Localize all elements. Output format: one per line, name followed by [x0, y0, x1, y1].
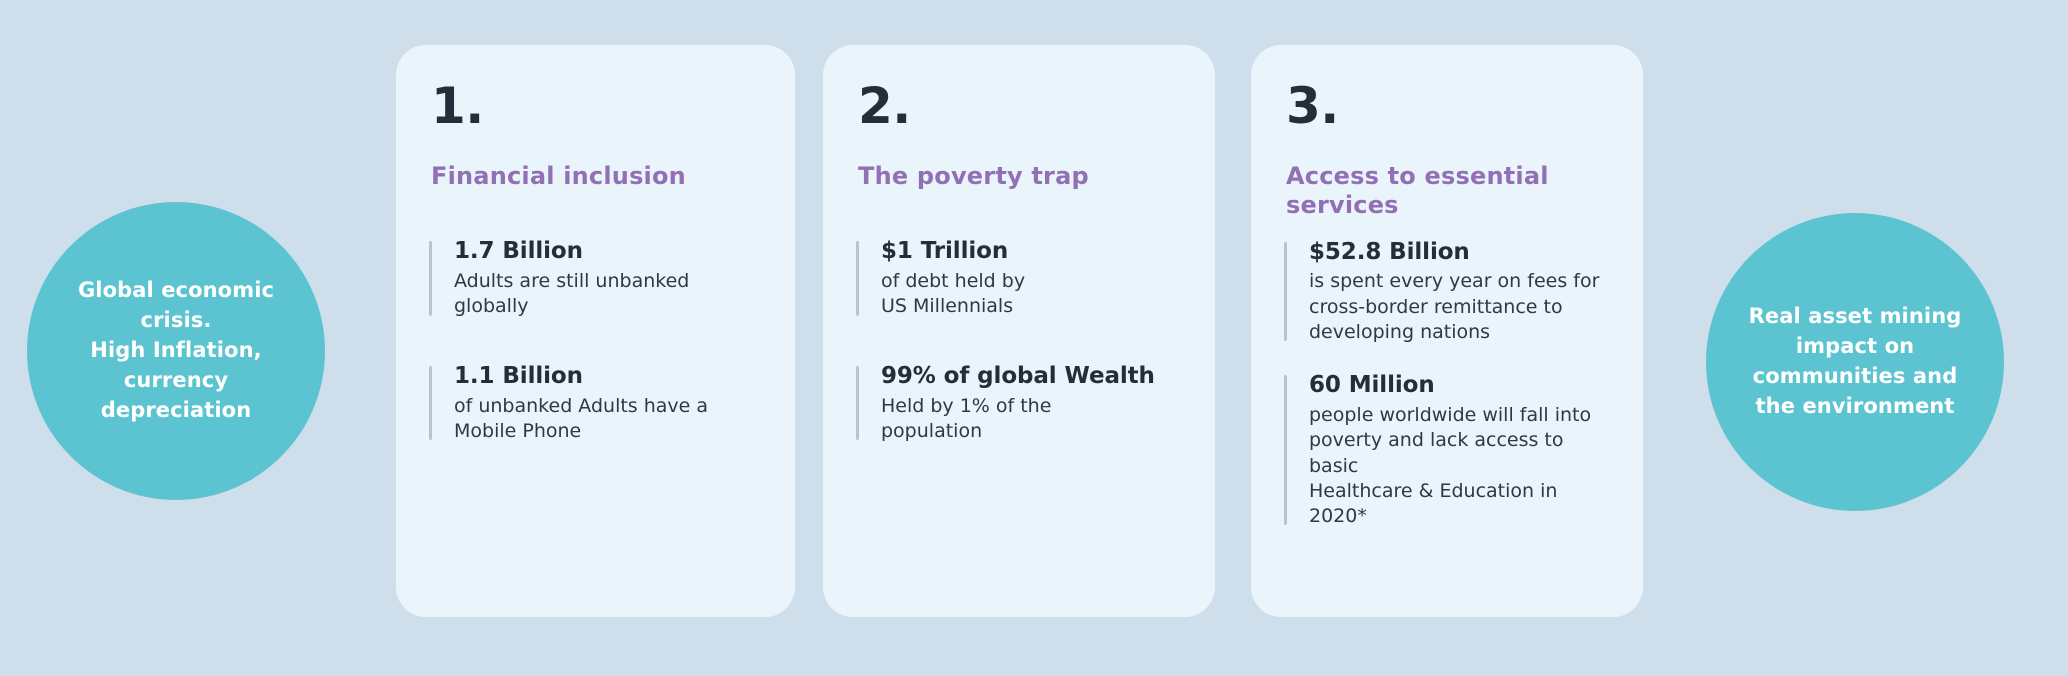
stat-description: people worldwide will fall into poverty … [1309, 403, 1607, 529]
stat-accent-bar-icon [1284, 242, 1287, 342]
stat-accent-bar-icon [429, 366, 432, 440]
stat-value: 60 Million [1309, 371, 1607, 401]
left-circle-text: Global economic crisis. High Inflation, … [27, 276, 325, 425]
stat-item: $1 Trillion of debt held by US Millennia… [856, 237, 1179, 319]
stat-description: of unbanked Adults have a Mobile Phone [454, 394, 759, 445]
stat-value: $52.8 Billion [1309, 238, 1607, 268]
stat-value: 99% of global Wealth [881, 362, 1179, 392]
stat-value: 1.1 Billion [454, 362, 759, 392]
stat-accent-bar-icon [1284, 375, 1287, 525]
stat-item: 1.7 Billion Adults are still unbanked gl… [429, 237, 759, 319]
right-context-circle: Real asset mining impact on communities … [1706, 213, 2004, 511]
stat-value: 1.7 Billion [454, 237, 759, 267]
stat-description: Adults are still unbanked globally [454, 269, 759, 320]
card-2-number: 2. [858, 81, 1179, 131]
stat-accent-bar-icon [429, 241, 432, 315]
card-financial-inclusion[interactable]: 1. Financial inclusion 1.7 Billion Adult… [396, 45, 795, 617]
card-3-stats: $52.8 Billion is spent every year on fee… [1284, 238, 1607, 530]
stat-accent-bar-icon [856, 366, 859, 440]
card-2-stats: $1 Trillion of debt held by US Millennia… [856, 237, 1179, 444]
stat-item: 99% of global Wealth Held by 1% of the p… [856, 362, 1179, 444]
stat-description: is spent every year on fees for cross-bo… [1309, 269, 1607, 345]
stat-accent-bar-icon [856, 241, 859, 315]
card-poverty-trap[interactable]: 2. The poverty trap $1 Trillion of debt … [823, 45, 1215, 617]
infographic-canvas: Global economic crisis. High Inflation, … [0, 0, 2068, 676]
stat-item: $52.8 Billion is spent every year on fee… [1284, 238, 1607, 346]
stat-description: Held by 1% of the population [881, 394, 1179, 445]
card-1-number: 1. [431, 81, 759, 131]
right-circle-text: Real asset mining impact on communities … [1706, 302, 2004, 421]
card-2-title: The poverty trap [858, 162, 1179, 191]
stat-item: 1.1 Billion of unbanked Adults have a Mo… [429, 362, 759, 444]
card-3-number: 3. [1286, 81, 1607, 131]
left-context-circle: Global economic crisis. High Inflation, … [27, 202, 325, 500]
stat-item: 60 Million people worldwide will fall in… [1284, 371, 1607, 529]
card-access-to-essential-services[interactable]: 3. Access to essential services $52.8 Bi… [1251, 45, 1643, 617]
card-3-title: Access to essential services [1286, 162, 1607, 221]
card-1-title: Financial inclusion [431, 162, 759, 191]
card-1-stats: 1.7 Billion Adults are still unbanked gl… [429, 237, 759, 444]
stat-description: of debt held by US Millennials [881, 269, 1179, 320]
stat-value: $1 Trillion [881, 237, 1179, 267]
